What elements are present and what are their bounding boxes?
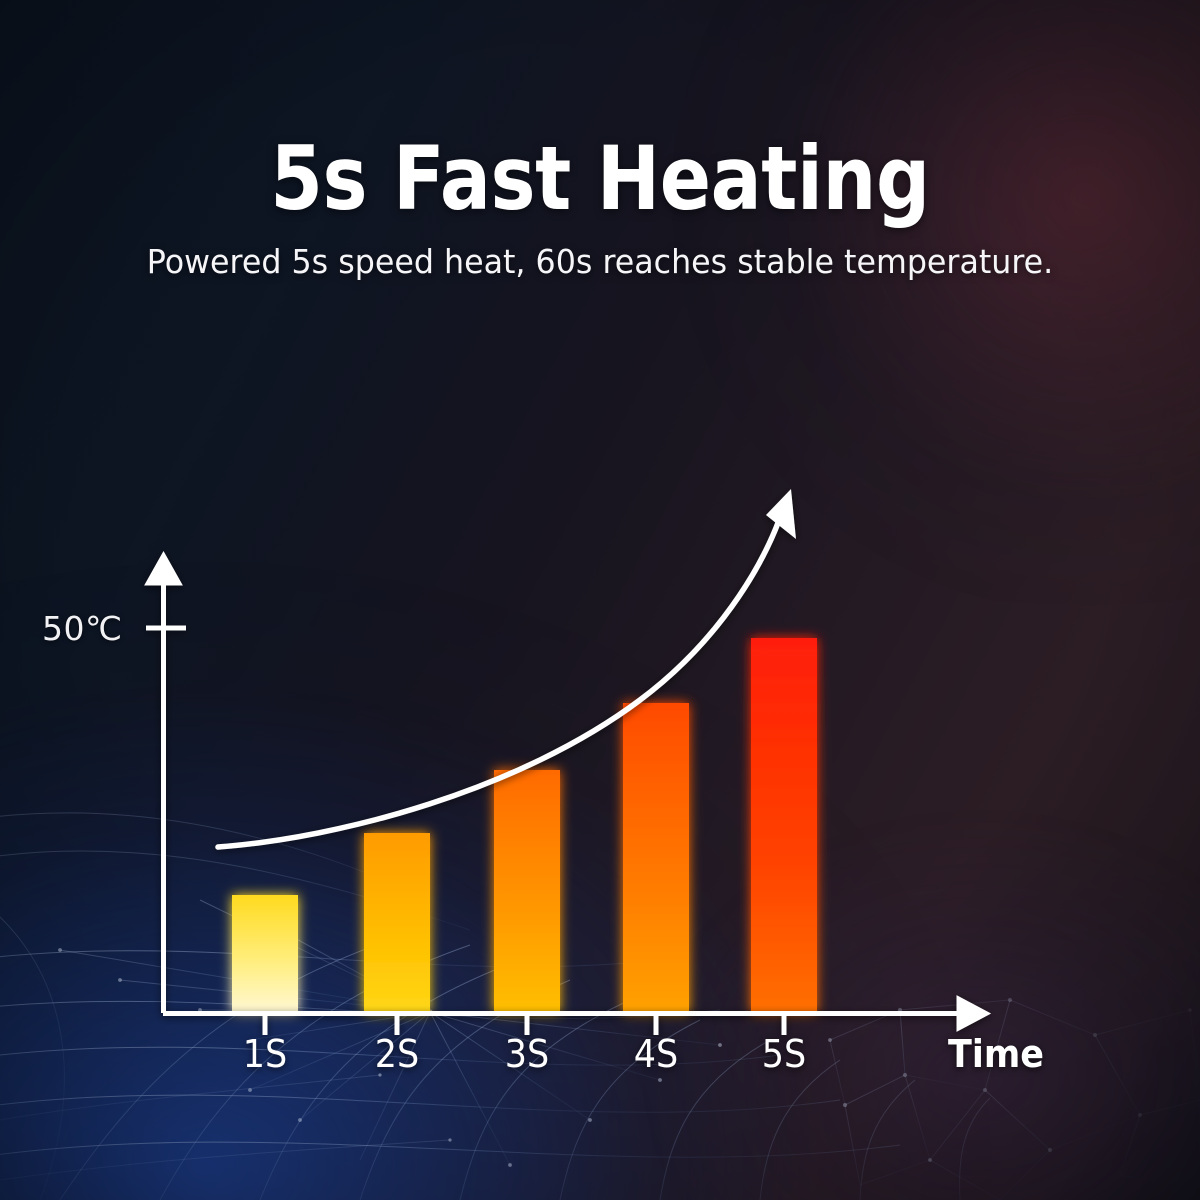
x-axis-label-2s: 2S bbox=[375, 1032, 419, 1076]
bar-4s bbox=[623, 703, 689, 1013]
y-axis-arrowhead bbox=[145, 552, 182, 585]
y-axis-tick-label: 50℃ bbox=[42, 609, 123, 648]
bar-2s bbox=[364, 833, 430, 1013]
trend-curve-arrowhead bbox=[766, 489, 796, 539]
x-axis-label-1s: 1S bbox=[243, 1032, 287, 1076]
bar-1s bbox=[232, 895, 298, 1013]
x-axis-label-4s: 4S bbox=[634, 1032, 678, 1076]
x-axis-name: Time bbox=[948, 1032, 1044, 1076]
bar-5s bbox=[751, 638, 817, 1013]
chart-svg bbox=[0, 0, 1200, 1200]
x-axis-label-5s: 5S bbox=[762, 1032, 806, 1076]
bar-3s bbox=[494, 770, 560, 1013]
heating-bar-chart: 50℃ 1S 2S 3S 4S 5S Time bbox=[0, 0, 1200, 1200]
x-axis-arrowhead bbox=[957, 996, 990, 1031]
bars-group bbox=[232, 638, 817, 1013]
promo-banner: 5s Fast Heating Powered 5s speed heat, 6… bbox=[0, 0, 1200, 1200]
x-axis-label-3s: 3S bbox=[505, 1032, 549, 1076]
